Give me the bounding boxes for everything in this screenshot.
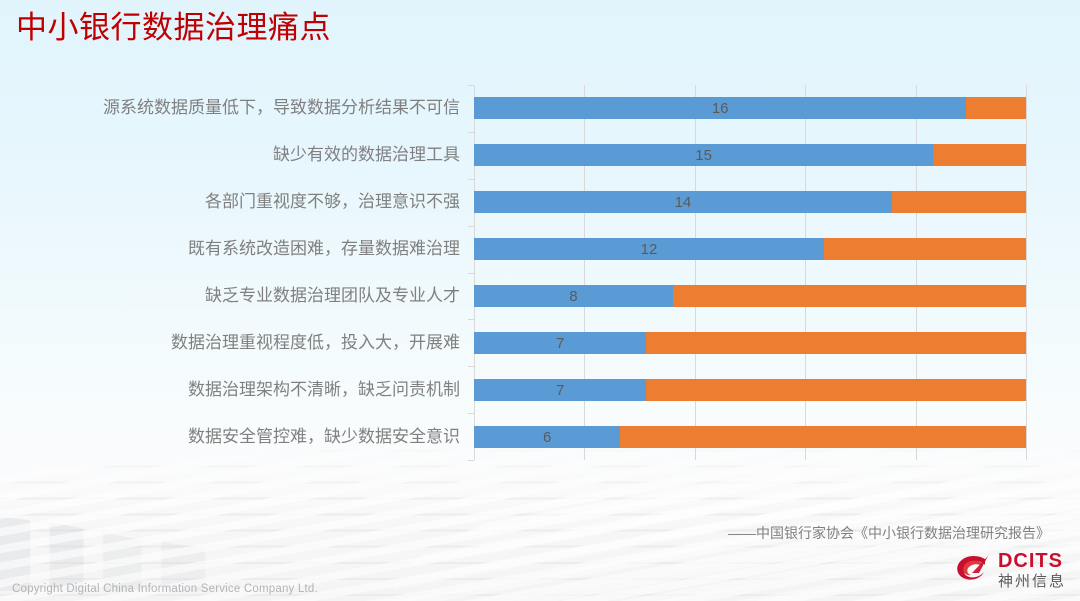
chart-data-label: 6: [474, 426, 620, 448]
chart-bar-segment-secondary[interactable]: [673, 285, 1026, 307]
chart-data-label: 7: [474, 379, 646, 401]
copyright-notice: Copyright Digital China Information Serv…: [12, 583, 318, 595]
chart-bar-segment-primary[interactable]: 7: [474, 332, 646, 354]
slide-canvas: 中小银行数据治理痛点 源系统数据质量低下，导致数据分析结果不可信缺少有效的数据治…: [0, 0, 1080, 601]
chart-bar-row[interactable]: 8: [474, 285, 1026, 307]
chart-bar-row[interactable]: 12: [474, 238, 1026, 260]
chart-data-label: 7: [474, 332, 646, 354]
chart-bar-row[interactable]: 16: [474, 97, 1026, 119]
chart-y-axis-tick: [468, 460, 474, 461]
source-attribution: ——中国银行家协会《中小银行数据治理研究报告》: [728, 523, 1050, 543]
chart-data-label: 12: [474, 238, 824, 260]
chart-bar-segment-primary[interactable]: 14: [474, 191, 892, 213]
chart-y-axis-tick: [468, 226, 474, 227]
chart-bar-segment-secondary[interactable]: [892, 191, 1026, 213]
chart-y-axis-tick: [468, 273, 474, 274]
chart-y-axis-tick: [468, 319, 474, 320]
chart-bar-segment-secondary[interactable]: [966, 97, 1026, 119]
chart-bar-row[interactable]: 7: [474, 332, 1026, 354]
chart-bar-segment-primary[interactable]: 12: [474, 238, 824, 260]
chart-y-axis-tick: [468, 132, 474, 133]
logo-chinese-text: 神州信息: [998, 574, 1066, 589]
chart-data-label: 8: [474, 285, 673, 307]
chart-data-label: 15: [474, 144, 933, 166]
chart-bar-segment-secondary[interactable]: [646, 332, 1026, 354]
chart-bar-segment-primary[interactable]: 6: [474, 426, 620, 448]
company-logo: DCITS 神州信息: [955, 549, 1066, 591]
chart-bar-row[interactable]: 7: [474, 379, 1026, 401]
chart-bar-segment-primary[interactable]: 8: [474, 285, 673, 307]
dcits-swirl-icon: [955, 553, 991, 587]
chart-bar-segment-primary[interactable]: 16: [474, 97, 966, 119]
logo-english-text: DCITS: [998, 551, 1066, 571]
chart-bar-segment-primary[interactable]: 15: [474, 144, 933, 166]
chart-bar-segment-secondary[interactable]: [620, 426, 1026, 448]
chart-bar-row[interactable]: 6: [474, 426, 1026, 448]
page-title: 中小银行数据治理痛点: [16, 6, 331, 50]
stacked-bar-chart: 源系统数据质量低下，导致数据分析结果不可信缺少有效的数据治理工具各部门重视度不够…: [0, 85, 1056, 467]
chart-bar-segment-primary[interactable]: 7: [474, 379, 646, 401]
chart-bar-row[interactable]: 14: [474, 191, 1026, 213]
chart-bar-row[interactable]: 15: [474, 144, 1026, 166]
chart-bar-segment-secondary[interactable]: [824, 238, 1026, 260]
background-blocks-shape: [0, 471, 486, 591]
chart-data-label: 16: [474, 97, 966, 119]
chart-bar-segment-secondary[interactable]: [933, 144, 1026, 166]
chart-bar-rows: 161514128776: [0, 85, 1056, 467]
chart-y-axis-tick: [468, 85, 474, 86]
chart-y-axis-tick: [468, 413, 474, 414]
chart-data-label: 14: [474, 191, 892, 213]
chart-y-axis-tick: [468, 366, 474, 367]
chart-bar-segment-secondary[interactable]: [646, 379, 1026, 401]
chart-y-axis-tick: [468, 179, 474, 180]
